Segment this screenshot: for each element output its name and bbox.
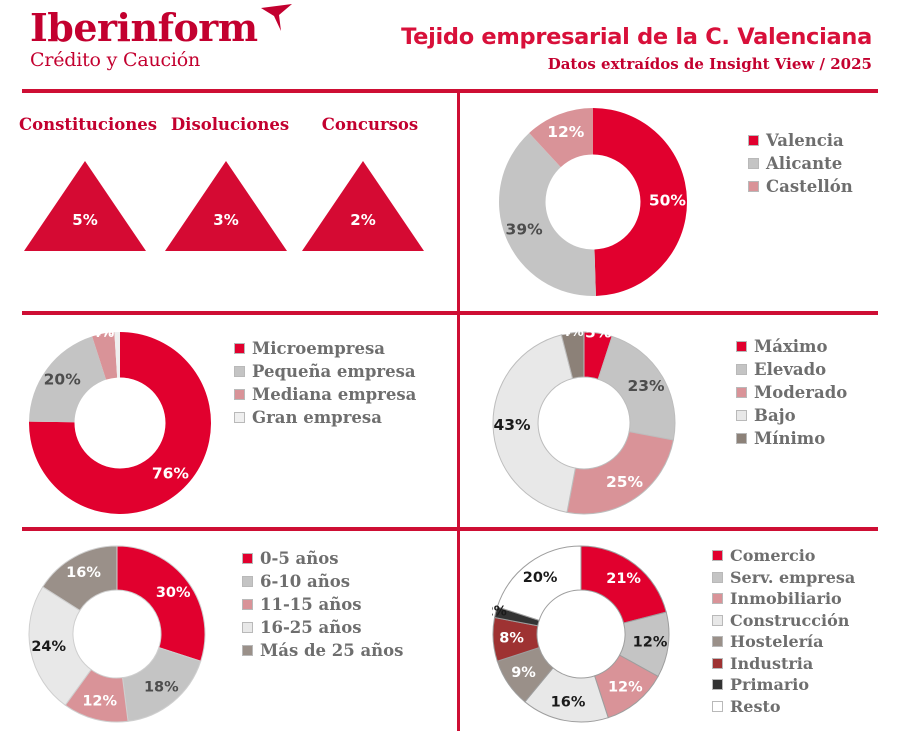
- donut-antiguedad: 30%18%12%24%16%: [28, 545, 206, 723]
- legend-item: Moderado: [736, 381, 847, 404]
- legend-swatch-icon: [242, 645, 253, 656]
- donut-tamano: 76%20%4%1%: [28, 331, 212, 515]
- legend-label: Mediana empresa: [252, 385, 416, 404]
- legend-swatch-icon: [242, 576, 253, 587]
- legend-item: Inmobiliario: [712, 588, 855, 610]
- pie-slice-label: 39%: [506, 221, 544, 239]
- legend-swatch-icon: [712, 658, 723, 669]
- legend-item: Serv. empresa: [712, 567, 855, 589]
- legend-item: Resto: [712, 696, 855, 718]
- pie-slice-label: 5%: [585, 331, 612, 342]
- legend-item: 11-15 años: [242, 593, 403, 616]
- panel-antiguedad: 30%18%12%24%16% 0-5 años6-10 años11-15 a…: [0, 531, 457, 735]
- pie-slice-label: 12%: [547, 123, 585, 141]
- legend-label: Valencia: [766, 131, 844, 150]
- legend-swatch-icon: [748, 158, 759, 169]
- pie-slice-label: 8%: [499, 630, 524, 646]
- legend-swatch-icon: [242, 622, 253, 633]
- legend-swatch-icon: [748, 135, 759, 146]
- legend-swatch-icon: [736, 433, 747, 444]
- pie-slice-label: 23%: [627, 377, 665, 395]
- legend-swatch-icon: [712, 701, 723, 712]
- indicator-value-concursos: 2%: [300, 211, 426, 229]
- pie-slice-label: 12%: [82, 693, 117, 709]
- legend-swatch-icon: [234, 366, 245, 377]
- legend-label: 0-5 años: [260, 549, 339, 568]
- legend-provincias: ValenciaAlicanteCastellón: [748, 129, 853, 198]
- legend-swatch-icon: [712, 679, 723, 690]
- legend-item: Valencia: [748, 129, 853, 152]
- pie-slice-label: 25%: [606, 473, 644, 491]
- donut-sectores: 21%12%12%16%9%8%2%20%: [492, 545, 670, 723]
- legend-item: Pequeña empresa: [234, 360, 416, 383]
- pie-slice-label: 2%: [492, 605, 507, 620]
- pie-slice: [117, 546, 205, 661]
- legend-label: Mínimo: [754, 429, 825, 448]
- page-subtitle: Datos extraídos de Insight View / 2025: [401, 54, 872, 74]
- indicator-value-constituciones: 5%: [22, 211, 148, 229]
- legend-label: Gran empresa: [252, 408, 382, 427]
- legend-swatch-icon: [712, 593, 723, 604]
- legend-label: Industria: [730, 654, 813, 673]
- pie-slice-label: 9%: [511, 665, 536, 681]
- legend-label: Microempresa: [252, 339, 385, 358]
- legend-swatch-icon: [736, 410, 747, 421]
- header-title-block: Tejido empresarial de la C. Valenciana D…: [401, 24, 872, 74]
- legend-label: Castellón: [766, 177, 853, 196]
- pie-slice-label: 20%: [523, 570, 558, 586]
- legend-swatch-icon: [748, 181, 759, 192]
- panel-tamano-empresa: 76%20%4%1% MicroempresaPequeña empresaMe…: [0, 315, 457, 527]
- legend-swatch-icon: [712, 615, 723, 626]
- legend-item: Elevado: [736, 358, 847, 381]
- donut-riesgo: 5%23%25%43%4%: [492, 331, 676, 515]
- panel-indicadores: Constituciones Disoluciones Concursos 5%…: [0, 93, 457, 311]
- page-header: Iberinform Crédito y Caución Tejido empr…: [0, 0, 900, 88]
- panel-riesgo: 5%23%25%43%4% MáximoElevadoModeradoBajoM…: [460, 315, 900, 527]
- indicator-label-concursos: Concursos: [300, 115, 440, 134]
- legend-label: 6-10 años: [260, 572, 350, 591]
- legend-label: Hostelería: [730, 632, 824, 651]
- pie-slice-label: 1%: [92, 331, 114, 340]
- legend-label: 16-25 años: [260, 618, 362, 637]
- indicator-value-disoluciones: 3%: [163, 211, 289, 229]
- pie-slice-label: 76%: [152, 465, 190, 483]
- legend-label: Máximo: [754, 337, 828, 356]
- logo-tagline: Crédito y Caución: [30, 49, 258, 71]
- pie-slice-label: 12%: [633, 635, 668, 651]
- legend-sectores: ComercioServ. empresaInmobiliarioConstru…: [712, 545, 855, 717]
- pie-slice-label: 20%: [44, 371, 82, 389]
- pie-slice-label: 16%: [66, 565, 101, 581]
- indicator-constituciones: 5%: [22, 159, 162, 259]
- legend-swatch-icon: [234, 412, 245, 423]
- logo-wordmark: Iberinform: [30, 8, 258, 48]
- legend-label: Inmobiliario: [730, 589, 842, 608]
- triangle-up-icon: [163, 159, 289, 253]
- swoosh-icon: [259, 2, 295, 32]
- pie-slice-label: 43%: [493, 416, 531, 434]
- legend-swatch-icon: [242, 553, 253, 564]
- legend-item: Máximo: [736, 335, 847, 358]
- legend-item: Mediana empresa: [234, 383, 416, 406]
- legend-item: Bajo: [736, 404, 847, 427]
- indicator-disoluciones: 3%: [163, 159, 303, 259]
- legend-item: Comercio: [712, 545, 855, 567]
- panel-sectores: 21%12%12%16%9%8%2%20% ComercioServ. empr…: [460, 531, 900, 735]
- legend-item: Gran empresa: [234, 406, 416, 429]
- legend-swatch-icon: [712, 636, 723, 647]
- iberinform-logo: Iberinform Crédito y Caución: [30, 8, 258, 71]
- indicator-label-disoluciones: Disoluciones: [160, 115, 300, 134]
- legend-label: Pequeña empresa: [252, 362, 416, 381]
- legend-item: 6-10 años: [242, 570, 403, 593]
- legend-label: 11-15 años: [260, 595, 362, 614]
- legend-label: Más de 25 años: [260, 641, 403, 660]
- legend-item: Castellón: [748, 175, 853, 198]
- legend-label: Alicante: [766, 154, 842, 173]
- panel-provincias: 50%39%12% ValenciaAlicanteCastellón: [460, 93, 900, 311]
- legend-item: Construcción: [712, 610, 855, 632]
- legend-swatch-icon: [712, 572, 723, 583]
- pie-slice-label: 12%: [608, 680, 643, 696]
- legend-item: 16-25 años: [242, 616, 403, 639]
- legend-swatch-icon: [234, 389, 245, 400]
- legend-label: Primario: [730, 675, 809, 694]
- legend-swatch-icon: [234, 343, 245, 354]
- legend-label: Construcción: [730, 611, 849, 630]
- legend-item: Hostelería: [712, 631, 855, 653]
- legend-label: Moderado: [754, 383, 847, 402]
- pie-slice-label: 50%: [649, 191, 687, 209]
- pie-slice-label: 30%: [156, 585, 191, 601]
- infographic-page: Iberinform Crédito y Caución Tejido empr…: [0, 0, 900, 735]
- legend-riesgo: MáximoElevadoModeradoBajoMínimo: [736, 335, 847, 450]
- legend-item: Industria: [712, 653, 855, 675]
- legend-label: Resto: [730, 697, 781, 716]
- legend-label: Bajo: [754, 406, 796, 425]
- legend-label: Elevado: [754, 360, 826, 379]
- legend-item: Primario: [712, 674, 855, 696]
- indicator-concursos: 2%: [300, 159, 440, 259]
- legend-swatch-icon: [712, 550, 723, 561]
- legend-label: Serv. empresa: [730, 568, 855, 587]
- legend-item: Alicante: [748, 152, 853, 175]
- legend-swatch-icon: [736, 364, 747, 375]
- pie-slice-label: 18%: [144, 680, 179, 696]
- legend-item: 0-5 años: [242, 547, 403, 570]
- legend-item: Mínimo: [736, 427, 847, 450]
- indicator-label-constituciones: Constituciones: [18, 115, 158, 134]
- pie-slice-label: 4%: [562, 331, 584, 340]
- legend-label: Comercio: [730, 546, 815, 565]
- pie-slice-label: 16%: [551, 694, 586, 710]
- pie-slice-label: 21%: [606, 571, 641, 587]
- pie-slice-label: 24%: [31, 639, 66, 655]
- legend-antiguedad: 0-5 años6-10 años11-15 años16-25 añosMás…: [242, 547, 403, 662]
- legend-item: Microempresa: [234, 337, 416, 360]
- legend-swatch-icon: [242, 599, 253, 610]
- legend-tamano: MicroempresaPequeña empresaMediana empre…: [234, 337, 416, 429]
- triangle-up-icon: [22, 159, 148, 253]
- triangle-up-icon: [300, 159, 426, 253]
- legend-swatch-icon: [736, 341, 747, 352]
- legend-swatch-icon: [736, 387, 747, 398]
- pie-slice: [499, 133, 596, 296]
- page-title: Tejido empresarial de la C. Valenciana: [401, 24, 872, 51]
- donut-provincias: 50%39%12%: [498, 107, 688, 297]
- legend-item: Más de 25 años: [242, 639, 403, 662]
